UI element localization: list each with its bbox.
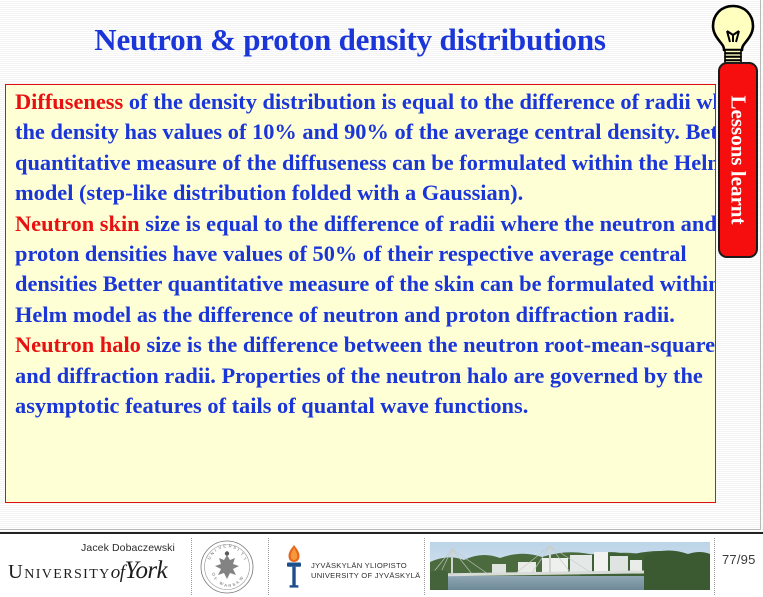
svg-text:Y: Y (242, 556, 248, 561)
svg-text:I: I (214, 548, 218, 553)
svg-text:S: S (233, 545, 237, 551)
svg-text:E: E (223, 543, 227, 548)
footer-divider-3 (424, 538, 425, 595)
svg-text:R: R (228, 543, 232, 548)
lessons-learnt-tab[interactable]: Lessons learnt (718, 62, 758, 258)
page-number: 77/95 (722, 552, 756, 567)
paragraph-neutron-halo: Neutron halo size is the difference betw… (15, 330, 716, 421)
campus-bridge-photo (430, 542, 710, 590)
svg-text:I: I (237, 547, 241, 552)
content-text: Diffuseness of the density distribution … (15, 87, 716, 421)
lessons-learnt-label: Lessons learnt (726, 96, 751, 225)
author-name: Jacek Dobaczewski (53, 542, 203, 554)
footer-divider-4 (714, 538, 715, 595)
footer-divider-1 (191, 538, 192, 595)
university-of-jyvaskyla-logo: JYVÄSKYLÄN YLIOPISTO UNIVERSITY OF JYVÄS… (281, 544, 421, 592)
paragraph-neutron-skin: Neutron skin size is equal to the differ… (15, 209, 716, 331)
svg-text:V: V (218, 545, 222, 551)
footer-divider-2 (268, 538, 269, 595)
jyvaskyla-logo-text: JYVÄSKYLÄN YLIOPISTO UNIVERSITY OF JYVÄS… (311, 561, 420, 580)
jyvaskyla-logo-line2: UNIVERSITY OF JYVÄSKYLÄ (311, 571, 420, 581)
keyword-neutron-halo: Neutron halo (15, 332, 141, 357)
content-box: Diffuseness of the density distribution … (5, 84, 716, 503)
york-logo-york: York (124, 557, 167, 584)
svg-text:A: A (224, 583, 228, 588)
york-logo-of: of (111, 562, 125, 583)
university-of-york-logo: UniversityofYork (8, 557, 198, 585)
university-of-warsaw-seal: U N I V E R S I T Y O F W A R S A W (199, 539, 255, 595)
paragraph-diffuseness: Diffuseness of the density distribution … (15, 87, 716, 209)
svg-text:W: W (238, 575, 245, 582)
page-title: Neutron & proton density distributions (0, 22, 700, 58)
slide-canvas: Neutron & proton density distributions D… (0, 0, 763, 534)
york-logo-university: University (8, 561, 111, 583)
keyword-neutron-skin: Neutron skin (15, 211, 140, 236)
svg-text:T: T (240, 551, 246, 557)
keyword-diffuseness: Diffuseness (15, 89, 123, 114)
torch-icon (281, 544, 307, 588)
svg-text:F: F (213, 576, 218, 582)
jyvaskyla-logo-line1: JYVÄSKYLÄN YLIOPISTO (311, 561, 420, 571)
